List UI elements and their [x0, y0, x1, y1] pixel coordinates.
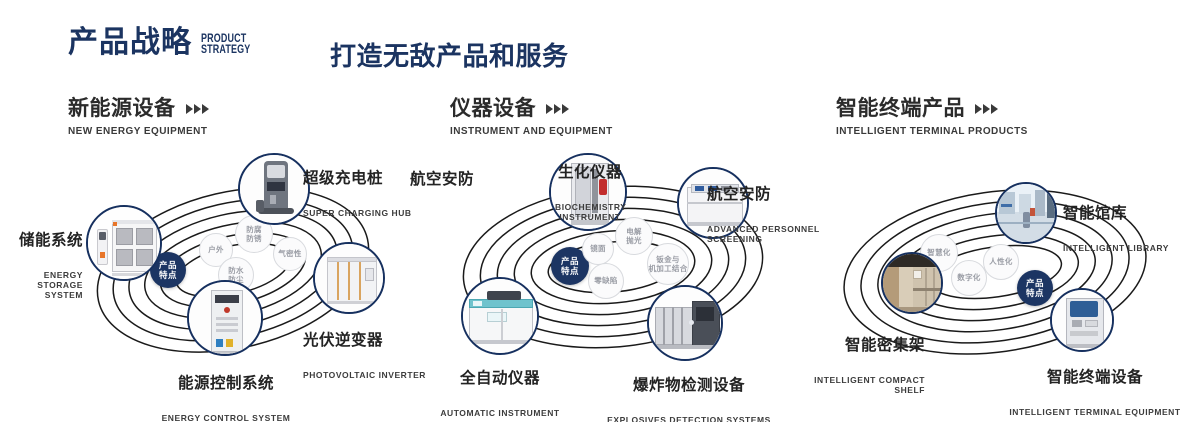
node-control-cabinet[interactable]	[187, 280, 263, 356]
node-caption-energy-storage: 储能系统 ENERGY STORAGE SYSTEM	[5, 215, 83, 319]
chevron-right-icon	[546, 104, 569, 114]
node-terminal-kiosk[interactable]	[1050, 288, 1114, 352]
node-caption-charging-pile: 超级充电桩 SUPER CHARGING HUB	[303, 153, 433, 236]
node-label-cn: 智能馆库	[1063, 206, 1200, 223]
node-automatic-instrument[interactable]	[461, 277, 539, 355]
node-label-cn: 光伏逆变器	[303, 333, 433, 350]
node-label-cn: 生化仪器	[555, 165, 625, 182]
section-title-instrument: 仪器设备 INSTRUMENT AND EQUIPMENT	[450, 98, 613, 137]
node-label-en: INTELLIGENT LIBRARY	[1063, 243, 1200, 253]
feature-bubble: 数字化	[951, 260, 987, 296]
page-header: 产品战略 PRODUCT STRATEGY	[68, 28, 264, 58]
node-intelligent-library[interactable]	[995, 182, 1057, 244]
node-caption-compact-shelf: 智能密集架 INTELLIGENT COMPACT SHELF	[775, 320, 925, 413]
section-title-cn: 新能源设备	[68, 98, 176, 119]
chevron-right-icon	[186, 104, 209, 114]
node-label-cn: 能源控制系统	[95, 376, 357, 393]
extra-label-aviation-security: 航空安防	[410, 167, 474, 189]
node-label-en: BIOCHEMISTRY INSTRUMENT	[555, 202, 625, 223]
node-compact-shelf[interactable]	[881, 252, 943, 314]
node-pv-inverter[interactable]	[313, 242, 385, 314]
node-explosives-detector[interactable]	[647, 285, 723, 361]
node-caption-explosives: 爆炸物检测设备 EXPLOSIVES DETECTION SYSTEMS	[605, 360, 773, 422]
node-caption-library: 智能馆库 INTELLIGENT LIBRARY	[1063, 188, 1200, 271]
node-label-cn: 爆炸物检测设备	[605, 378, 773, 395]
node-label-en: SUPER CHARGING HUB	[303, 208, 433, 218]
node-label-en: INTELLIGENT COMPACT SHELF	[775, 375, 925, 396]
cluster-intelligent-terminal: 智慧化 数字化 人性化 产品 特点 智能馆库 INTELLIGENT LIBRA…	[815, 160, 1190, 370]
node-caption-terminal-equipment: 智能终端设备 INTELLIGENT TERMINAL EQUIPMENT	[1005, 352, 1185, 422]
node-label-en: INTELLIGENT TERMINAL EQUIPMENT	[1005, 407, 1185, 417]
feature-bubble: 气密性	[273, 237, 307, 271]
node-label-cn: 智能终端设备	[1005, 370, 1185, 387]
node-energy-storage[interactable]	[86, 205, 162, 281]
node-label-cn: 智能密集架	[775, 338, 925, 355]
section-title-cn: 仪器设备	[450, 98, 536, 119]
section-title-en: INSTRUMENT AND EQUIPMENT	[450, 126, 613, 137]
node-label-en: ENERGY CONTROL SYSTEM	[95, 413, 357, 422]
node-label-cn: 储能系统	[5, 233, 83, 250]
feature-bubble: 钣金与 机加工结合	[647, 243, 689, 285]
section-title-en: NEW ENERGY EQUIPMENT	[68, 126, 209, 137]
node-caption-control-system: 能源控制系统 ENERGY CONTROL SYSTEM	[95, 358, 357, 422]
section-title-new-energy: 新能源设备 NEW ENERGY EQUIPMENT	[68, 98, 209, 137]
cluster-new-energy: 产品 特点 户外 防腐 防锈 防水 防尘 气密性 储能系统 ENERGY S	[55, 155, 415, 370]
section-title-intelligent: 智能终端产品 INTELLIGENT TERMINAL PRODUCTS	[836, 98, 1028, 137]
node-charging-pile[interactable]	[238, 153, 310, 225]
cluster-instrument: 产品 特点 镜面 电解 抛光 零缺陷 钣金与 机加工结合 生化仪器 BIOCHE…	[425, 155, 795, 370]
page-title: 产品战略	[68, 28, 192, 58]
page-title-english: PRODUCT STRATEGY	[201, 34, 250, 57]
chevron-right-icon	[975, 104, 998, 114]
node-label-en: AUTOMATIC INSTRUMENT	[420, 408, 580, 418]
node-label-en: ENERGY STORAGE SYSTEM	[5, 270, 83, 301]
feature-bubble: 零缺陷	[588, 263, 624, 299]
node-label-cn: 全自动仪器	[420, 371, 580, 388]
node-caption-biochemistry: 生化仪器 BIOCHEMISTRY INSTRUMENT	[555, 147, 625, 240]
core-bubble: 产品 特点	[1017, 270, 1053, 306]
product-strategy-infographic: 产品战略 PRODUCT STRATEGY 打造无敌产品和服务 新能源设备 NE…	[0, 0, 1200, 422]
feature-bubble: 人性化	[983, 244, 1019, 280]
node-label-en: EXPLOSIVES DETECTION SYSTEMS	[605, 415, 773, 422]
section-title-en: INTELLIGENT TERMINAL PRODUCTS	[836, 126, 1028, 137]
section-title-cn: 智能终端产品	[836, 98, 965, 119]
node-caption-automatic-instrument: 全自动仪器 AUTOMATIC INSTRUMENT	[420, 353, 580, 422]
page-tagline: 打造无敌产品和服务	[330, 36, 569, 73]
